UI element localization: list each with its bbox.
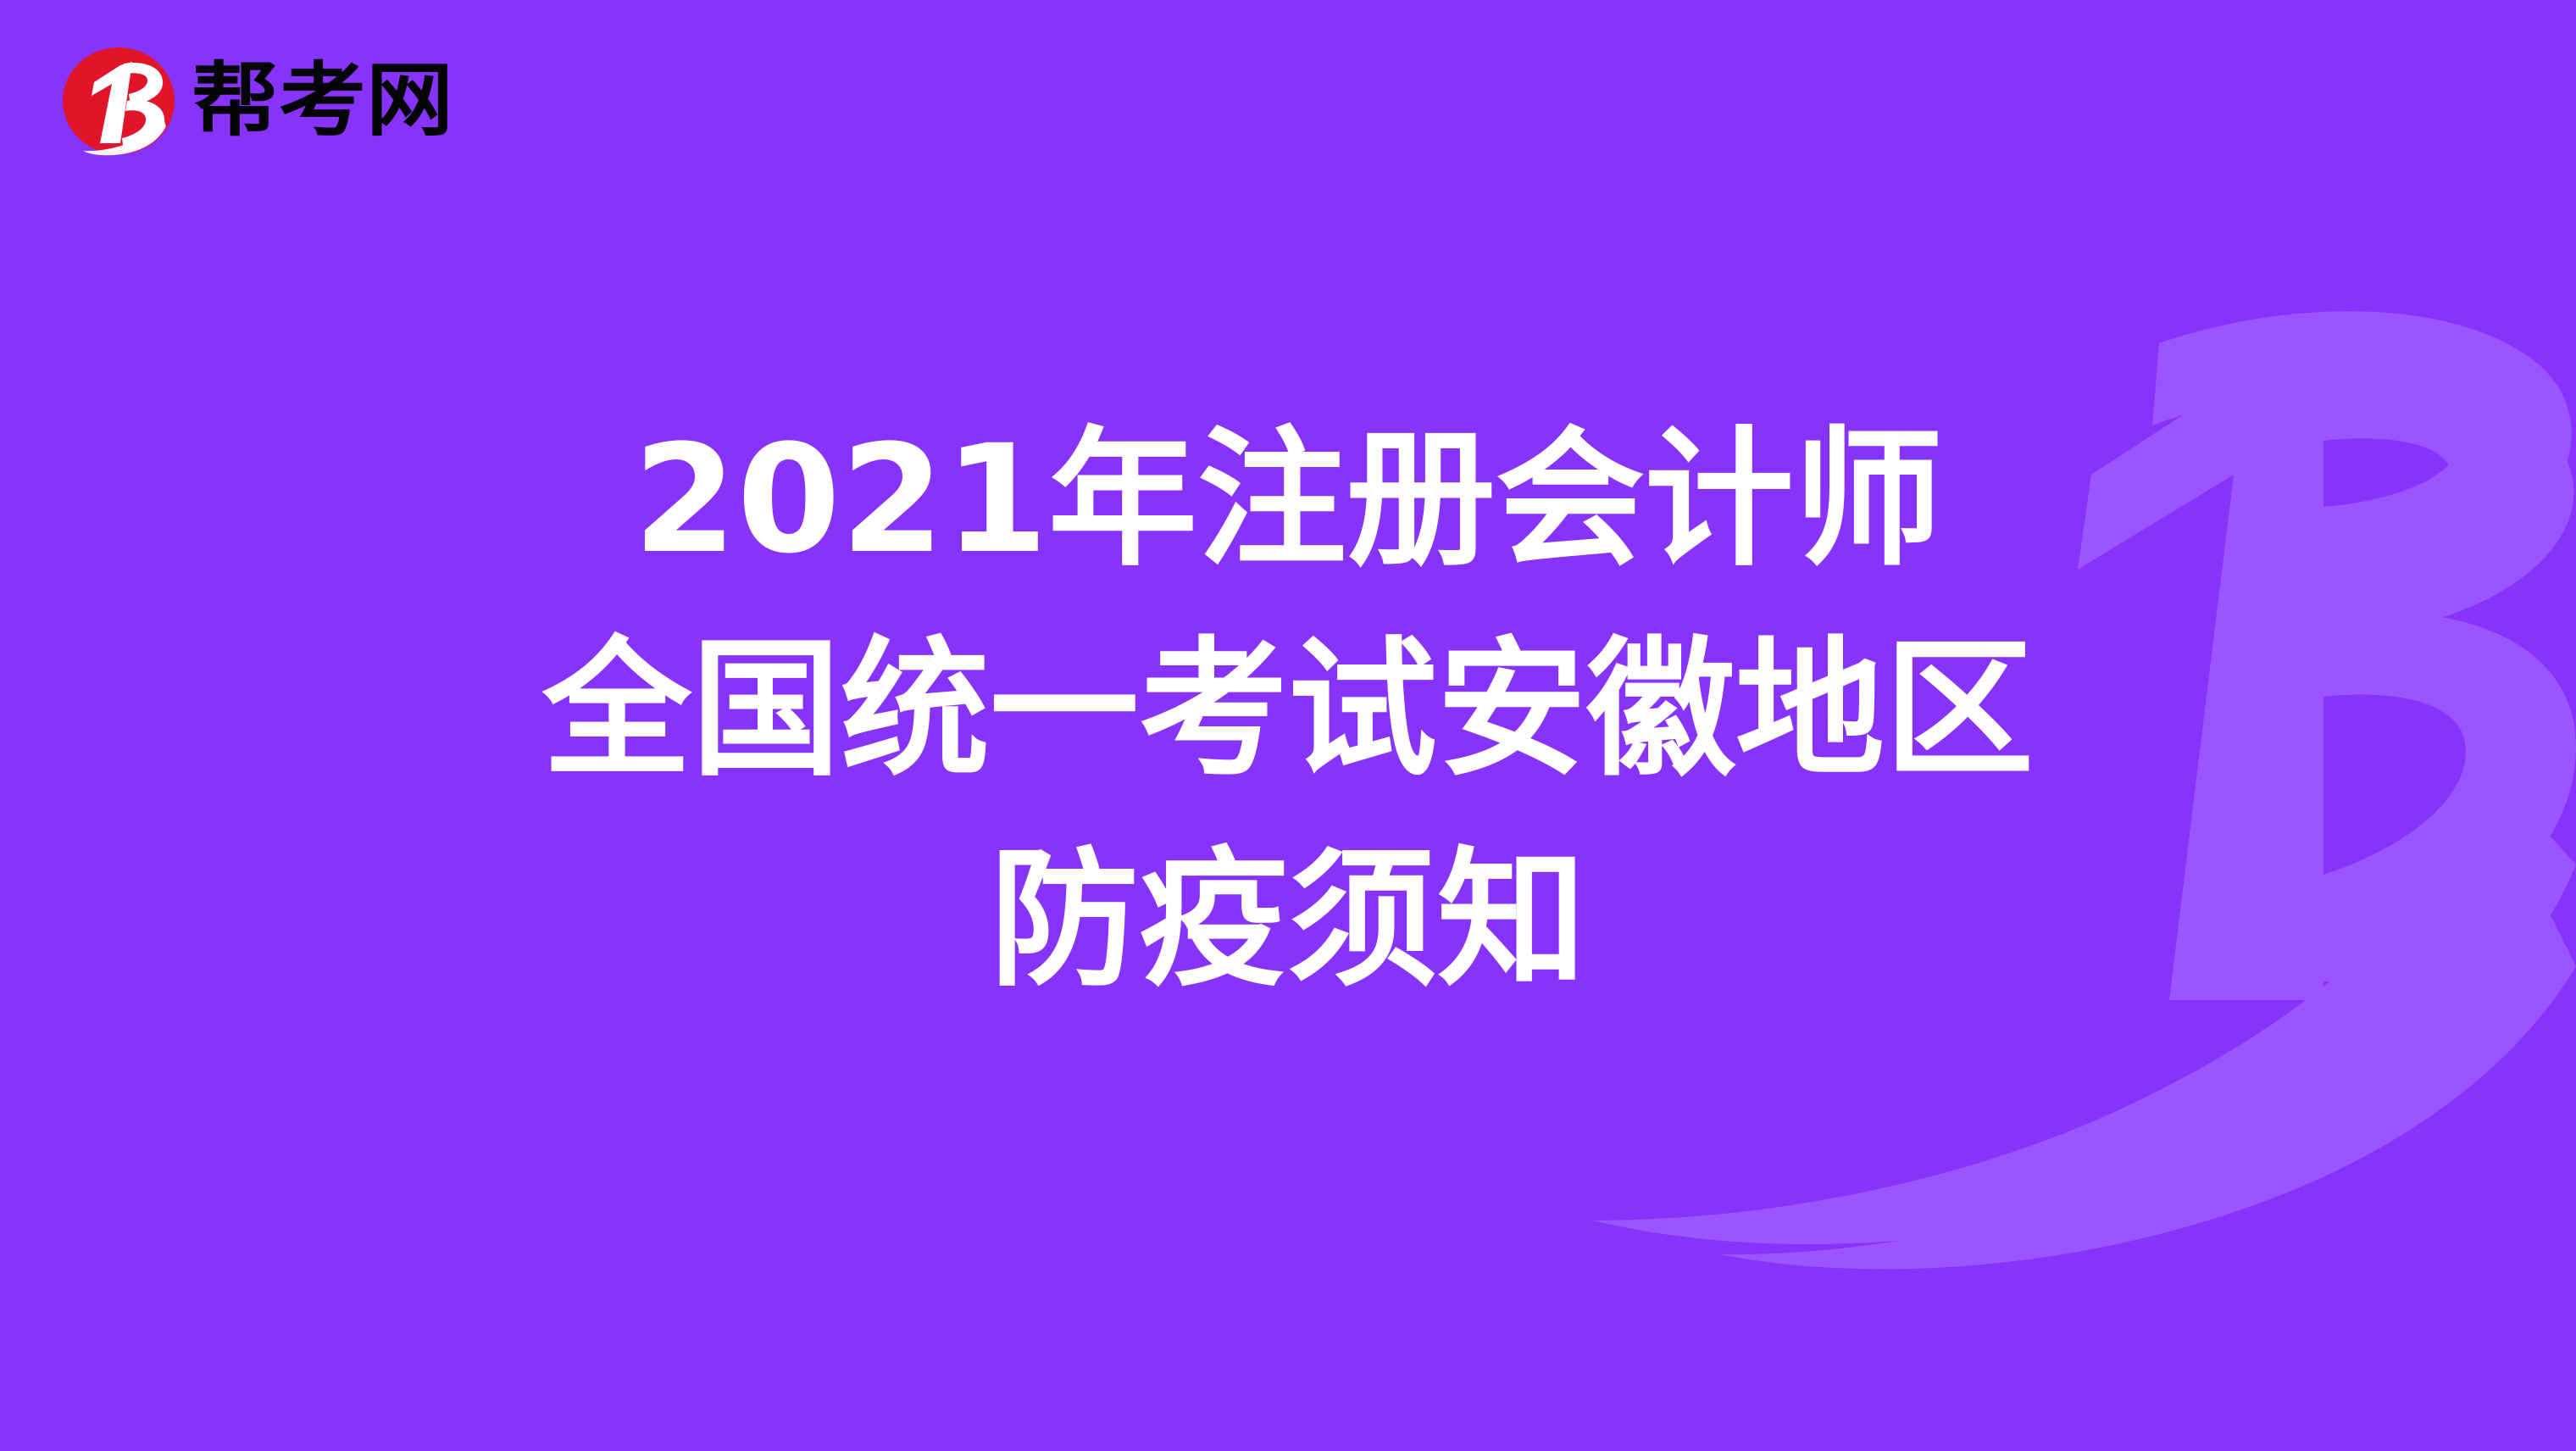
promo-banner: 帮考网 2021年注册会计师 全国统一考试安徽地区 防疫须知 [0,0,2576,1451]
page-title-line-1: 2021年注册会计师 [0,395,2576,605]
brand-logo: 帮考网 [61,42,453,159]
brand-wordmark: 帮考网 [192,61,453,142]
page-title-line-2: 全国统一考试安徽地区 [0,605,2576,815]
page-title-line-3: 防疫须知 [0,815,2576,1026]
page-title: 2021年注册会计师 全国统一考试安徽地区 防疫须知 [0,395,2576,1026]
bangkao-b-logo-icon [61,43,176,158]
